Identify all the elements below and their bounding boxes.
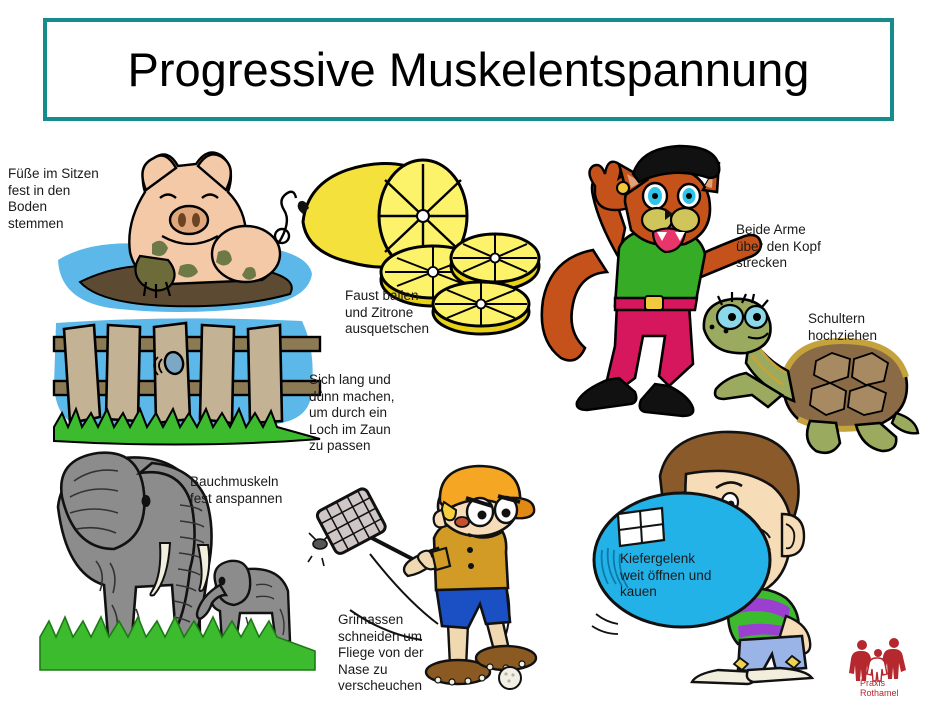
caption-feet: Füße im Sitzen fest in den Boden stemmen bbox=[8, 166, 128, 232]
page-title: Progressive Muskelentspannung bbox=[128, 42, 810, 97]
caption-fist: Faust ballen und Zitrone ausquetschen bbox=[345, 288, 465, 338]
praxis-rothamel-logo-icon bbox=[846, 636, 924, 694]
caption-jaw: Kiefergelenk weit öffnen und kauen bbox=[620, 551, 750, 601]
title-box: Progressive Muskelentspannung bbox=[43, 18, 894, 121]
caption-fence: Sich lang und dünn machen, um durch ein … bbox=[309, 372, 429, 455]
caption-face: Grimassen schneiden um Fliege von der Na… bbox=[338, 612, 458, 695]
caption-shoulders: Schultern hochziehen bbox=[808, 311, 928, 344]
wooden-fence-illustration bbox=[52, 315, 322, 465]
caption-arms: Beide Arme über den Kopf strecken bbox=[736, 222, 856, 272]
caption-belly: Bauchmuskeln fest anspannen bbox=[190, 474, 325, 507]
